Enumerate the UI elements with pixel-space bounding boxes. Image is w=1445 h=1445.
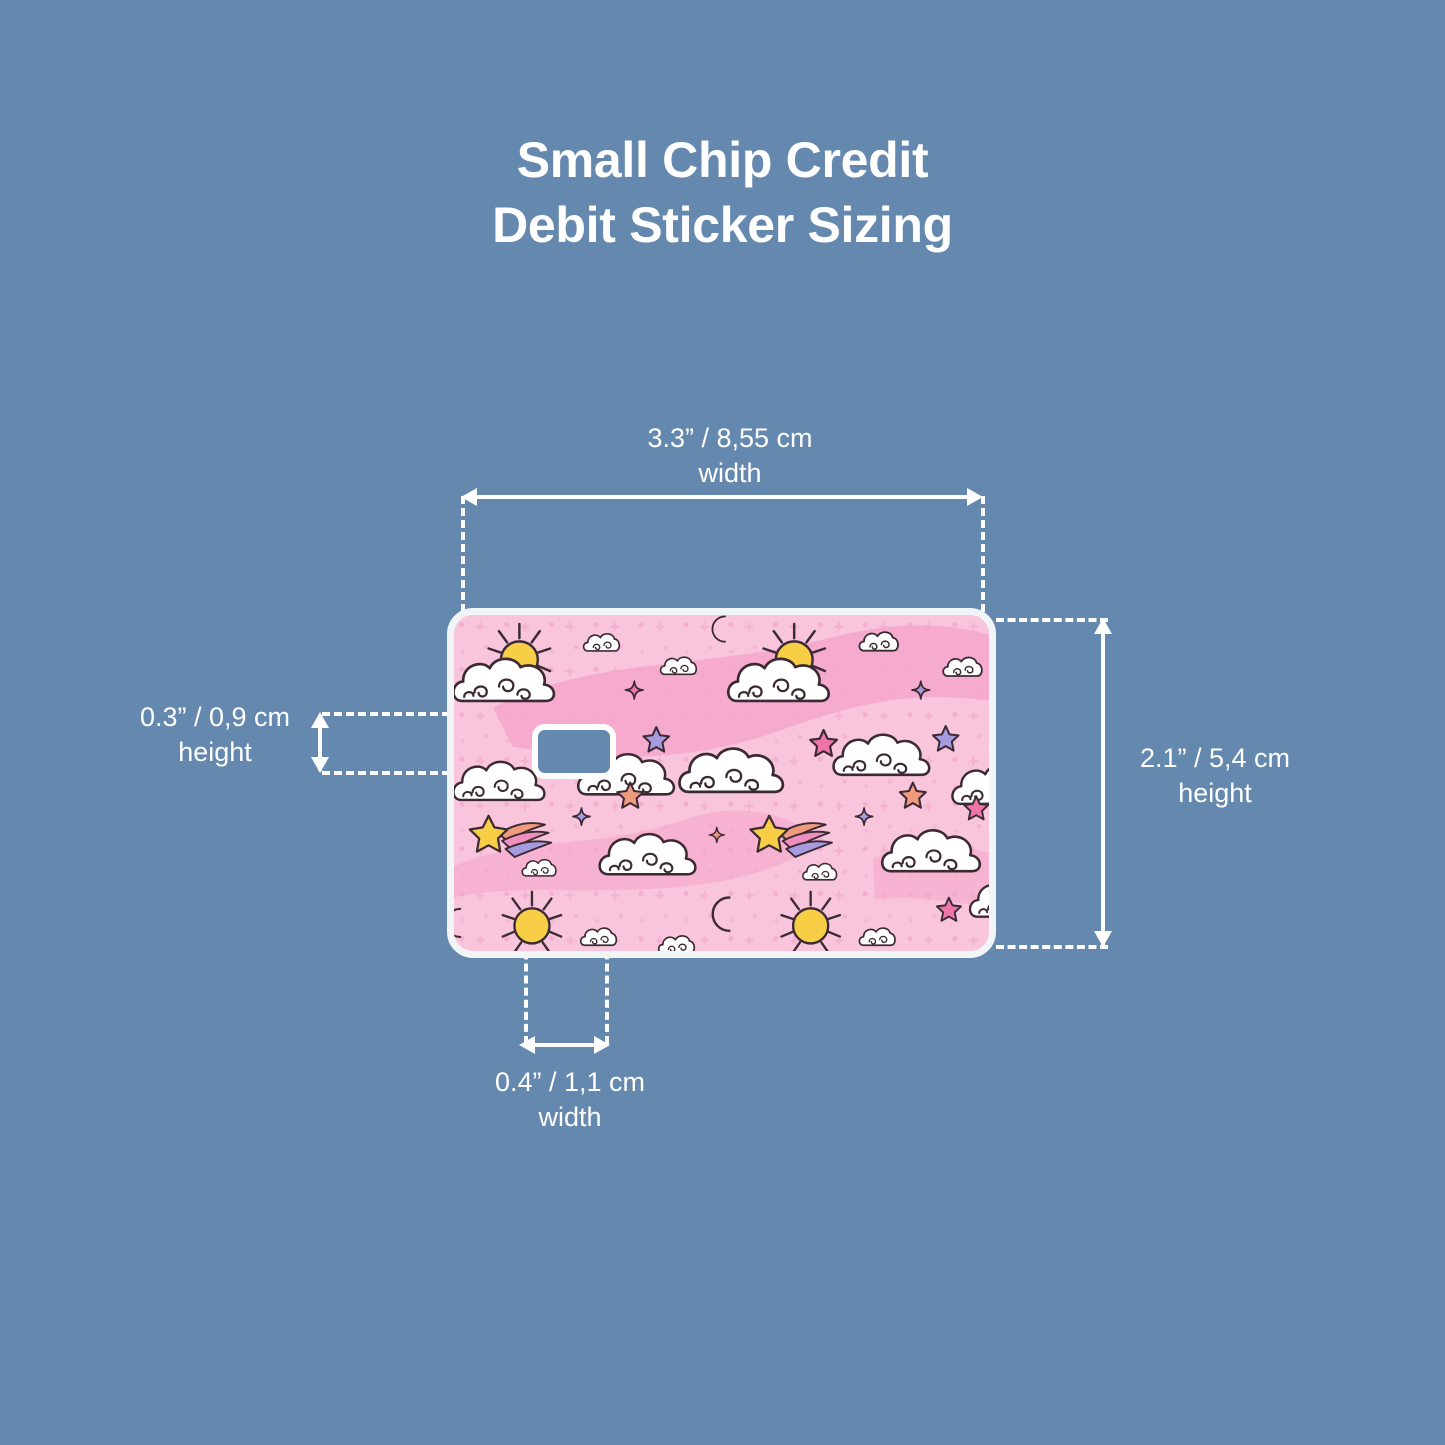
card-width-extension-left	[461, 496, 465, 612]
card-height-label: 2.1” / 5,4 cm height	[1085, 741, 1345, 811]
card-height-arrowhead-bottom-icon	[1094, 931, 1112, 947]
card-width-label: 3.3” / 8,55 cm width	[570, 421, 890, 491]
card-width-arrowhead-right-icon	[967, 488, 983, 506]
card-width-arrowhead-left-icon	[461, 488, 477, 506]
chip-width-arrowhead-left-icon	[519, 1036, 535, 1054]
card-height-arrowhead-top-icon	[1094, 618, 1112, 634]
card-width-arrow-line	[465, 495, 980, 499]
chip-height-arrowhead-bottom-icon	[311, 757, 329, 773]
card-height-extension-top	[996, 618, 1108, 622]
chip-height-arrowhead-top-icon	[311, 712, 329, 728]
chip-height-label: 0.3” / 0,9 cm height	[85, 700, 345, 770]
card-height-arrow-line	[1101, 622, 1105, 945]
chip-cutout	[532, 724, 616, 779]
page-title: Small Chip Credit Debit Sticker Sizing	[0, 128, 1445, 258]
sticker-card-preview[interactable]	[447, 608, 996, 958]
card-artwork	[454, 615, 989, 956]
chip-width-label: 0.4” / 1,1 cm width	[440, 1065, 700, 1135]
diagram-canvas: Small Chip Credit Debit Sticker Sizing 3…	[0, 0, 1445, 1445]
chip-width-arrowhead-right-icon	[594, 1036, 610, 1054]
card-height-extension-bottom	[996, 945, 1108, 949]
card-width-extension-right	[981, 496, 985, 612]
